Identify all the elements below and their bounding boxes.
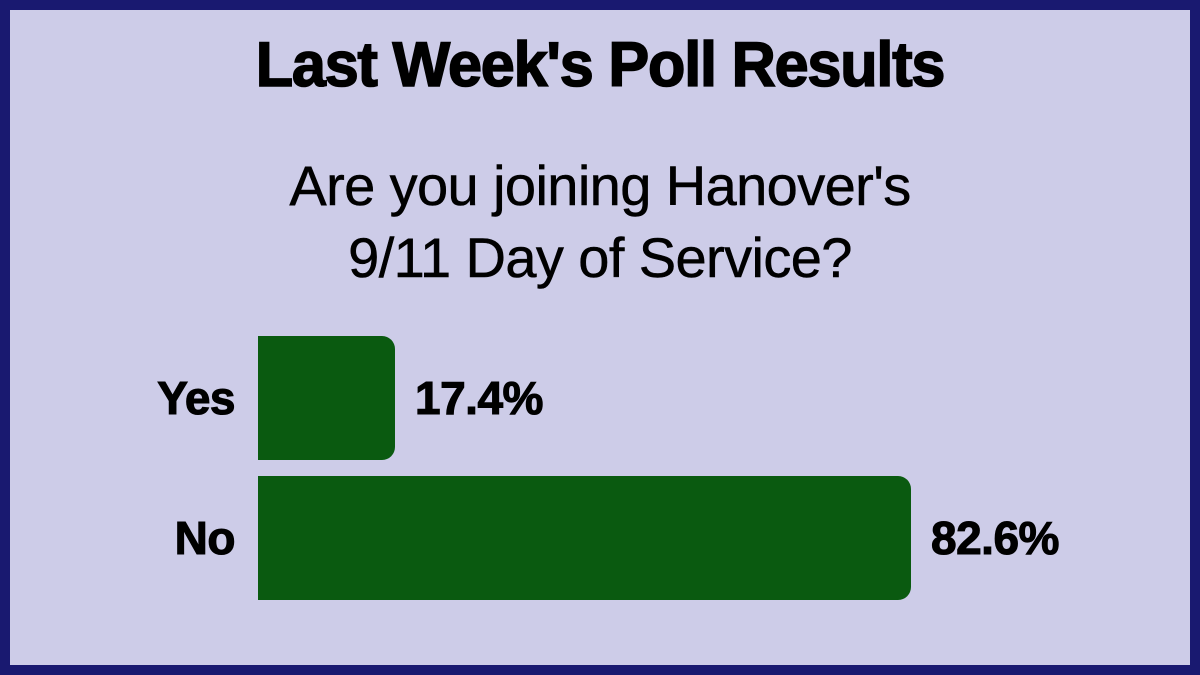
bar-value-label-yes: 17.4% [415, 336, 543, 460]
bar-track-no: 82.6% [258, 476, 1190, 600]
bar-value-label-no: 82.6% [931, 476, 1059, 600]
poll-question-text: Are you joining Hanover's 9/11 Day of Se… [10, 150, 1190, 294]
bar-category-label-no: No [10, 476, 235, 600]
bar-row: No 82.6% [10, 476, 1190, 600]
bar-row: Yes 17.4% [10, 336, 1190, 460]
bar-fill-no [258, 476, 911, 600]
bar-chart: Yes 17.4% No 82.6% [10, 326, 1190, 626]
card-inner-panel: Last Week's Poll Results Are you joining… [10, 10, 1190, 665]
page-title: Last Week's Poll Results [28, 28, 1173, 102]
poll-results-card: Last Week's Poll Results Are you joining… [0, 0, 1200, 675]
bar-fill-yes [258, 336, 395, 460]
title-block: Last Week's Poll Results [10, 28, 1190, 102]
question-block: Are you joining Hanover's 9/11 Day of Se… [10, 150, 1190, 294]
bar-category-label-yes: Yes [10, 336, 235, 460]
bar-track-yes: 17.4% [258, 336, 1190, 460]
